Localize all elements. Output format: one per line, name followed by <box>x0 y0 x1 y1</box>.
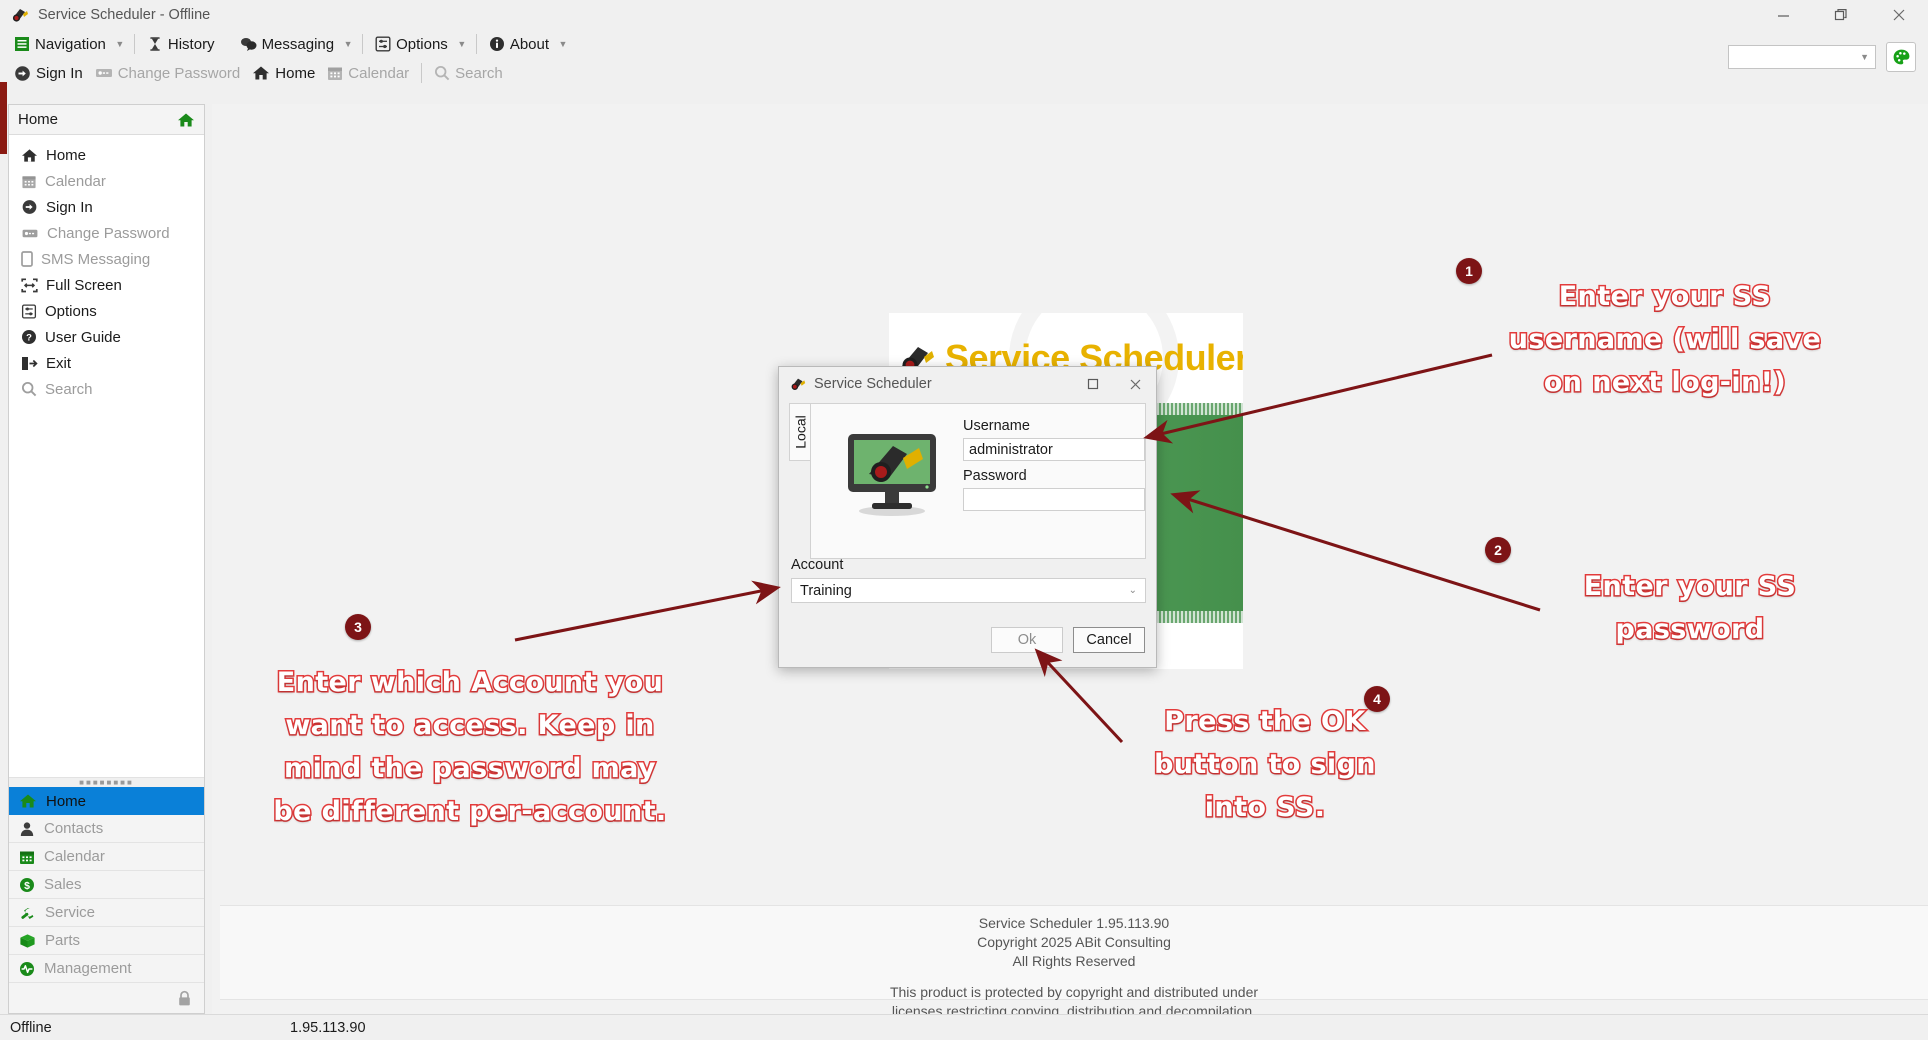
calendar-icon-green <box>19 849 35 865</box>
navigation-dropdown-caret[interactable]: ▼ <box>112 33 128 55</box>
calendar-icon <box>327 65 343 81</box>
palette-button[interactable] <box>1886 42 1916 72</box>
sidebar-nav-contacts[interactable]: Contacts <box>9 815 204 843</box>
palette-icon <box>1892 48 1911 67</box>
sign-in-icon <box>21 199 38 215</box>
minimize-button[interactable] <box>1754 0 1812 30</box>
sidebar-nav-parts[interactable]: Parts <box>9 927 204 955</box>
grip-dots: ■■■■■■■■ <box>79 779 134 787</box>
sidebar-bottom-nav: Home Contacts Calendar $ Sales <box>9 787 204 1013</box>
sidebar-item-label: Options <box>45 303 97 320</box>
dialog-tab-area: Local Username <box>789 403 1146 559</box>
sidebar-item-user-guide[interactable]: ? User Guide <box>9 324 204 350</box>
window-title-text: Service Scheduler - Offline <box>38 7 210 23</box>
gauge-icon <box>19 961 35 977</box>
close-button[interactable] <box>1870 0 1928 30</box>
question-mark-icon: ? <box>21 329 37 345</box>
wrench-icon <box>19 905 36 921</box>
toolbar-calendar-button: Calendar <box>321 61 415 85</box>
sidebar-header-label: Home <box>18 111 177 128</box>
sidebar-item-change-password: Change Password <box>9 220 204 246</box>
chevron-down-icon: ⌄ <box>1129 585 1137 596</box>
exit-door-icon <box>21 356 38 371</box>
annotation-note-1: Enter your SSusername (will saveon next … <box>1500 275 1830 404</box>
sidebar: Home Home Calendar Sign In <box>8 104 205 1014</box>
status-connection: Offline <box>0 1020 290 1036</box>
annotation-note-2: Enter your SSpassword <box>1560 565 1820 651</box>
password-label: Password <box>963 468 1145 484</box>
left-accent-stripe <box>0 82 7 154</box>
sidebar-item-label: SMS Messaging <box>41 251 150 268</box>
password-key-icon <box>95 66 113 80</box>
toolbar-change-password-label: Change Password <box>118 65 241 82</box>
service-scheduler-logo-icon <box>10 5 30 25</box>
status-bar: Offline 1.95.113.90 <box>0 1014 1928 1040</box>
sidebar-item-list: Home Calendar Sign In Change Password SM <box>9 135 204 777</box>
ok-button-label: Ok <box>1018 632 1037 648</box>
footer-copyright: Copyright 2025 ABit Consulting <box>220 933 1928 952</box>
sidebar-item-label: Change Password <box>47 225 170 242</box>
footer-spacer <box>220 971 1928 983</box>
sidebar-item-exit[interactable]: Exit <box>9 350 204 376</box>
sidebar-item-label: Sign In <box>46 199 93 216</box>
username-value: administrator <box>969 442 1053 458</box>
sliders-icon <box>21 304 37 319</box>
sidebar-splitter-grip[interactable]: ■■■■■■■■ <box>9 777 204 787</box>
search-icon <box>434 65 450 81</box>
sidebar-item-sign-in[interactable]: Sign In <box>9 194 204 220</box>
toolbar-separator-4 <box>476 34 477 54</box>
dialog-window-controls <box>1072 368 1156 401</box>
info-icon <box>489 36 505 52</box>
toolbar-search-button: Search <box>428 61 509 85</box>
tab-panel-local: Username administrator Password <box>810 403 1146 559</box>
sidebar-nav-service[interactable]: Service <box>9 899 204 927</box>
about-dropdown-caret[interactable]: ▼ <box>555 33 571 55</box>
home-icon <box>252 65 270 81</box>
username-input[interactable]: administrator <box>963 438 1145 461</box>
sign-in-icon <box>14 65 31 82</box>
toolbar-change-password-button: Change Password <box>89 61 247 85</box>
dialog-restore-button[interactable] <box>1072 368 1114 401</box>
username-label: Username <box>963 418 1145 434</box>
fullscreen-icon <box>21 278 38 293</box>
chat-bubbles-icon <box>240 36 257 52</box>
toolbar-options-button[interactable]: Options <box>369 32 454 56</box>
toolbar-sign-in-button[interactable]: Sign In <box>8 61 89 85</box>
sidebar-nav-management[interactable]: Management <box>9 955 204 983</box>
sidebar-header: Home <box>9 105 204 135</box>
footer-license-line1: This product is protected by copyright a… <box>220 983 1928 1002</box>
sidebar-item-label: Full Screen <box>46 277 122 294</box>
annotation-badge-3: 3 <box>345 614 371 640</box>
box-icon <box>19 933 36 949</box>
cancel-button[interactable]: Cancel <box>1073 627 1145 653</box>
ok-button[interactable]: Ok <box>991 627 1063 653</box>
status-version: 1.95.113.90 <box>290 1020 366 1036</box>
service-scheduler-logo-icon <box>789 375 807 393</box>
window-controls <box>1754 0 1928 30</box>
toolbar-home-label: Home <box>275 65 315 82</box>
dialog-close-button[interactable] <box>1114 368 1156 401</box>
password-input[interactable] <box>963 488 1145 511</box>
toolbar-options-label: Options <box>396 36 448 53</box>
toolbar-about-label: About <box>510 36 549 53</box>
sidebar-nav-label: Sales <box>44 876 82 893</box>
annotation-badge-1: 1 <box>1456 258 1482 284</box>
toolbar-history-label: History <box>168 36 215 53</box>
toolbar-about-button[interactable]: About <box>483 32 555 56</box>
sidebar-nav-label: Calendar <box>44 848 105 865</box>
sidebar-nav-home[interactable]: Home <box>9 787 204 815</box>
theme-select[interactable]: ▼ <box>1728 45 1876 69</box>
toolbar-navigation-label: Navigation <box>35 36 106 53</box>
annotation-note-4: Press the OKbutton to signinto SS. <box>1140 700 1390 829</box>
sidebar-nav-calendar[interactable]: Calendar <box>9 843 204 871</box>
home-icon-green <box>19 793 37 809</box>
legal-footer: Service Scheduler 1.95.113.90 Copyright … <box>220 905 1928 1000</box>
account-value: Training <box>800 583 1129 599</box>
sidebar-item-label: Calendar <box>45 173 106 190</box>
toolbar-separator-3 <box>362 34 363 54</box>
cancel-button-label: Cancel <box>1086 632 1131 648</box>
footer-version: Service Scheduler 1.95.113.90 <box>220 914 1928 933</box>
toolbar-right-cluster: ▼ <box>1728 42 1916 72</box>
messaging-dropdown-caret[interactable]: ▼ <box>340 33 356 55</box>
sidebar-item-options[interactable]: Options <box>9 298 204 324</box>
phone-icon <box>21 251 33 267</box>
dollar-circle-icon: $ <box>19 877 35 893</box>
toolbar-calendar-label: Calendar <box>348 65 409 82</box>
sidebar-nav-label: Parts <box>45 932 80 949</box>
window-title-bar: Service Scheduler - Offline <box>0 0 1928 30</box>
footer-rights: All Rights Reserved <box>220 952 1928 971</box>
tab-local[interactable]: Local <box>789 403 811 461</box>
sidebar-nav-label: Contacts <box>44 820 103 837</box>
password-key-icon <box>21 227 39 240</box>
chevron-down-icon: ▼ <box>1860 52 1869 62</box>
toolbar-search-label: Search <box>455 65 503 82</box>
login-dialog: Service Scheduler Local <box>778 366 1157 668</box>
svg-text:$: $ <box>24 879 30 891</box>
sidebar-nav-label: Service <box>45 904 95 921</box>
sidebar-item-full-screen[interactable]: Full Screen <box>9 272 204 298</box>
toolbar-home-button[interactable]: Home <box>246 61 321 85</box>
sidebar-item-calendar: Calendar <box>9 168 204 194</box>
sidebar-item-search: Search <box>9 376 204 402</box>
sidebar-item-label: User Guide <box>45 329 121 346</box>
main-toolbar-row-1: Navigation ▼ History Messaging ▼ <box>0 30 1928 58</box>
toolbar-messaging-label: Messaging <box>262 36 335 53</box>
toolbar-messaging-button[interactable]: Messaging <box>234 32 341 56</box>
sidebar-lock-row <box>9 983 204 1013</box>
home-icon-green <box>177 112 195 128</box>
sidebar-item-home[interactable]: Home <box>9 142 204 168</box>
password-group: Password <box>963 468 1145 511</box>
tab-local-label: Local <box>793 415 809 448</box>
dialog-title-text: Service Scheduler <box>814 376 932 392</box>
toolbar-separator-1 <box>134 34 135 54</box>
sidebar-item-label: Exit <box>46 355 71 372</box>
dialog-title-bar: Service Scheduler <box>779 367 1156 401</box>
restore-button[interactable] <box>1812 0 1870 30</box>
sidebar-nav-label: Management <box>44 960 132 977</box>
menu-icon <box>14 36 30 52</box>
toolbar-separator-5 <box>421 63 422 83</box>
calendar-icon <box>21 174 37 189</box>
toolbar-sign-in-label: Sign In <box>36 65 83 82</box>
hourglass-icon <box>147 36 163 52</box>
dialog-button-row: Ok Cancel <box>991 627 1145 653</box>
annotation-note-3: Enter which Account youwant to access. K… <box>240 661 700 833</box>
home-icon <box>21 148 38 163</box>
padlock-icon[interactable] <box>177 990 192 1007</box>
sidebar-item-label: Home <box>46 147 86 164</box>
account-label: Account <box>791 557 843 573</box>
main-toolbar-row-2: Sign In Change Password Home <box>0 58 1928 88</box>
sidebar-nav-sales[interactable]: $ Sales <box>9 871 204 899</box>
annotation-badge-2: 2 <box>1485 537 1511 563</box>
account-select[interactable]: Training ⌄ <box>791 578 1146 603</box>
options-dropdown-caret[interactable]: ▼ <box>454 33 470 55</box>
search-icon <box>21 381 37 397</box>
svg-text:?: ? <box>26 333 32 344</box>
username-group: Username administrator <box>963 418 1145 461</box>
sidebar-nav-label: Home <box>46 793 86 810</box>
computer-monitor-icon <box>845 432 939 518</box>
sidebar-item-label: Search <box>45 381 93 398</box>
toolbar-navigation-button[interactable]: Navigation <box>8 32 112 56</box>
sliders-icon <box>375 36 391 52</box>
person-icon <box>19 821 35 837</box>
toolbar-history-button[interactable]: History <box>141 32 221 56</box>
sidebar-item-sms-messaging: SMS Messaging <box>9 246 204 272</box>
